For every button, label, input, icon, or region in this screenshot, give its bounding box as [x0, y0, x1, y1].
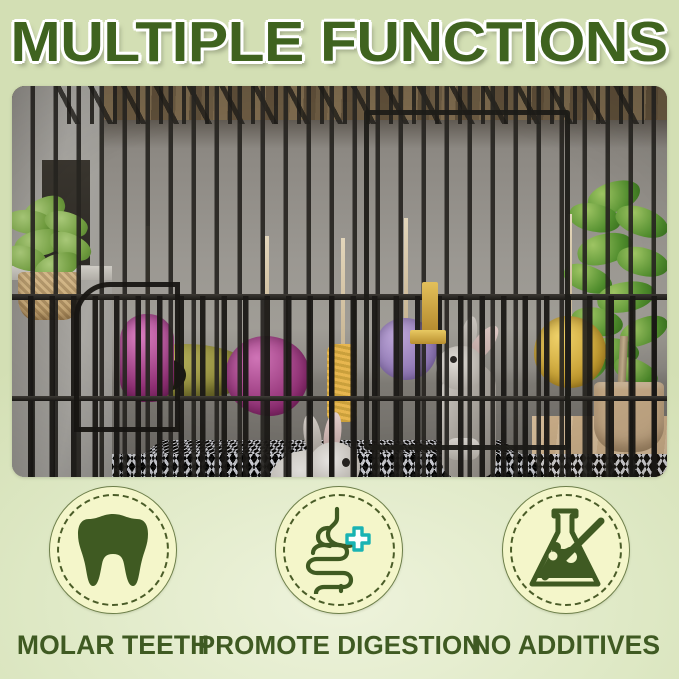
- page-title: MULTIPLE FUNCTIONS: [11, 12, 668, 72]
- no-chemical-flask-icon: [523, 507, 609, 593]
- feature-molar-teeth: MOLAR TEETH: [0, 486, 226, 661]
- product-lifestyle-photo: [12, 86, 667, 477]
- feature-label: MOLAR TEETH: [17, 630, 209, 661]
- digestive-system-icon: [297, 506, 381, 594]
- tooth-icon: [76, 510, 150, 590]
- no-additives-badge: [502, 486, 630, 614]
- feature-label: PROMOTE DIGESTION: [198, 630, 481, 661]
- feature-promote-digestion: PROMOTE DIGESTION: [226, 486, 452, 661]
- feature-label: NO ADDITIVES: [471, 630, 660, 661]
- feature-no-additives: NO ADDITIVES: [453, 486, 679, 661]
- photo-vignette: [12, 86, 667, 477]
- headline-container: MULTIPLE FUNCTIONS: [0, 6, 679, 78]
- feature-list: MOLAR TEETH PROMOTE DIGESTION: [0, 486, 679, 672]
- product-feature-banner: MULTIPLE FUNCTIONS: [0, 0, 679, 679]
- digestion-badge: [275, 486, 403, 614]
- tooth-badge: [49, 486, 177, 614]
